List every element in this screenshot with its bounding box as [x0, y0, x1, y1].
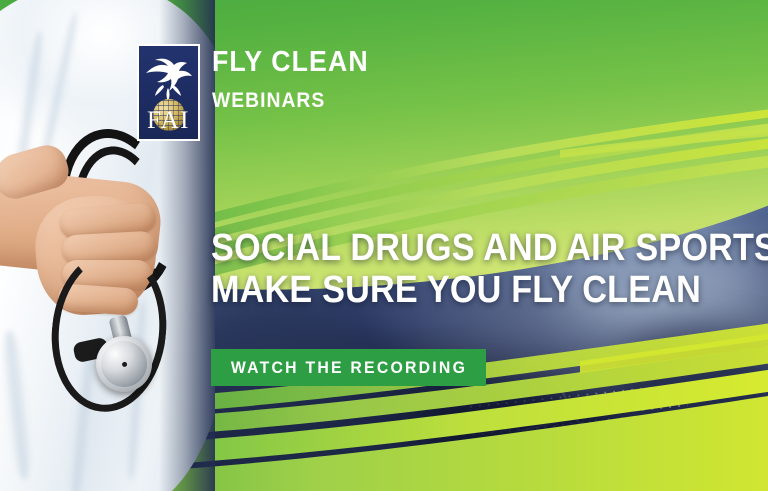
brand-subtitle: WEBINARS — [212, 90, 369, 111]
fly-clean-webinar-banner: FAI FLY CLEAN WEBINARS SOCIAL DRUGS AND … — [0, 0, 768, 491]
headline-line-1: SOCIAL DRUGS AND AIR SPORTS: — [211, 227, 697, 269]
fai-logo-text: FAI — [139, 108, 198, 133]
brand-lockup: FLY CLEAN WEBINARS — [212, 48, 382, 111]
headline: SOCIAL DRUGS AND AIR SPORTS: MAKE SURE Y… — [211, 227, 751, 311]
cta-label: WATCH THE RECORDING — [230, 358, 466, 378]
fai-logo[interactable]: FAI — [137, 44, 200, 141]
brand-title: FLY CLEAN — [212, 48, 369, 77]
watch-the-recording-button[interactable]: WATCH THE RECORDING — [211, 349, 486, 386]
headline-line-2: MAKE SURE YOU FLY CLEAN — [211, 269, 697, 311]
